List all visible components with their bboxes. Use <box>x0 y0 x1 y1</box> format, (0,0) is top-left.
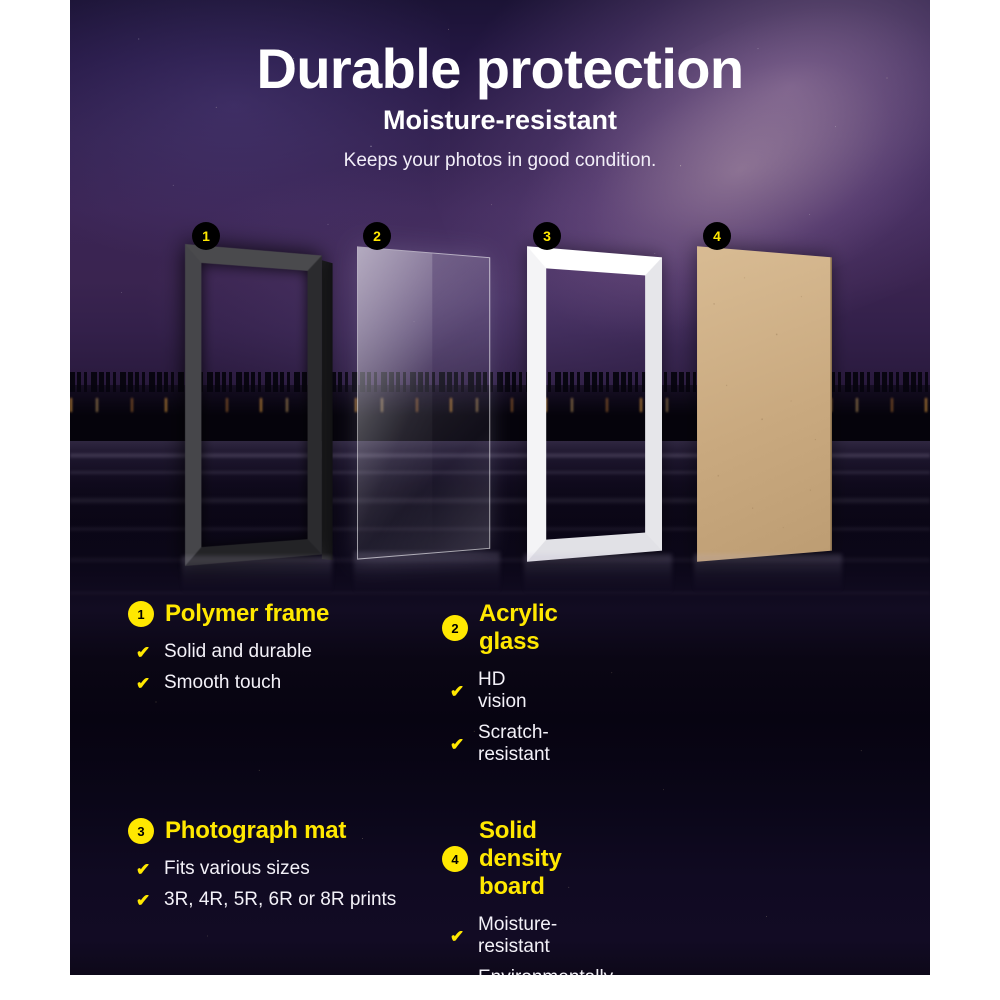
bullet-text: Environmentally friendly <box>478 967 613 975</box>
feature-badge-2: 2 <box>442 615 468 641</box>
check-icon: ✔ <box>450 928 464 945</box>
check-icon: ✔ <box>450 683 464 700</box>
board-reflection <box>694 554 842 602</box>
bullet-text: Moisture-resistant <box>478 914 557 958</box>
layer-badge-2: 2 <box>363 222 391 250</box>
polymer-frame-layer <box>185 244 322 566</box>
product-infographic: Durable protection Moisture-resistant Ke… <box>0 0 1000 1000</box>
feature-heading: 2 Acrylic glass <box>442 600 500 656</box>
feature-block-2: 2 Acrylic glass ✔ HD vision ✔ Scratch-re… <box>70 600 500 775</box>
exploded-layers-diagram: 1 2 3 4 <box>70 0 930 620</box>
bullet-text: HD vision <box>478 669 527 713</box>
photo-canvas: Durable protection Moisture-resistant Ke… <box>70 0 930 975</box>
layer-badge-4: 4 <box>703 222 731 250</box>
list-item: ✔ HD vision <box>450 669 500 713</box>
glass-reflection <box>354 552 500 604</box>
feature-bullets-2: ✔ HD vision ✔ Scratch-resistant <box>442 669 500 766</box>
feature-list: 1 Polymer frame ✔ Solid and durable ✔ Sm… <box>70 600 930 975</box>
acrylic-glass-layer <box>357 246 490 559</box>
check-icon: ✔ <box>450 736 464 753</box>
bullet-text: Scratch-resistant <box>478 722 550 766</box>
frame-side-edge <box>322 260 333 560</box>
glass-highlight <box>358 247 433 558</box>
feature-title-4: Solid density board <box>479 817 562 901</box>
feature-bullets-4: ✔ Moisture-resistant ✔ Environmentally f… <box>442 914 500 975</box>
list-item: ✔ Moisture-resistant <box>450 914 500 958</box>
list-item: ✔ Environmentally friendly <box>450 967 500 975</box>
photograph-mat-layer <box>527 246 662 562</box>
list-item: ✔ Scratch-resistant <box>450 722 500 766</box>
feature-title-2: Acrylic glass <box>479 600 558 656</box>
layer-badge-1: 1 <box>192 222 220 250</box>
feature-badge-4: 4 <box>442 846 468 872</box>
frame-face <box>185 244 322 566</box>
feature-heading: 4 Solid density board <box>442 817 500 901</box>
density-board-layer <box>697 246 832 562</box>
mat-reflection <box>524 554 672 604</box>
feature-row-bottom: 3 Photograph mat ✔ Fits various sizes ✔ … <box>70 817 930 975</box>
feature-block-4: 4 Solid density board ✔ Moisture-resista… <box>70 817 500 975</box>
mat-face <box>527 246 662 562</box>
layer-badge-3: 3 <box>533 222 561 250</box>
feature-row-top: 1 Polymer frame ✔ Solid and durable ✔ Sm… <box>70 600 930 775</box>
